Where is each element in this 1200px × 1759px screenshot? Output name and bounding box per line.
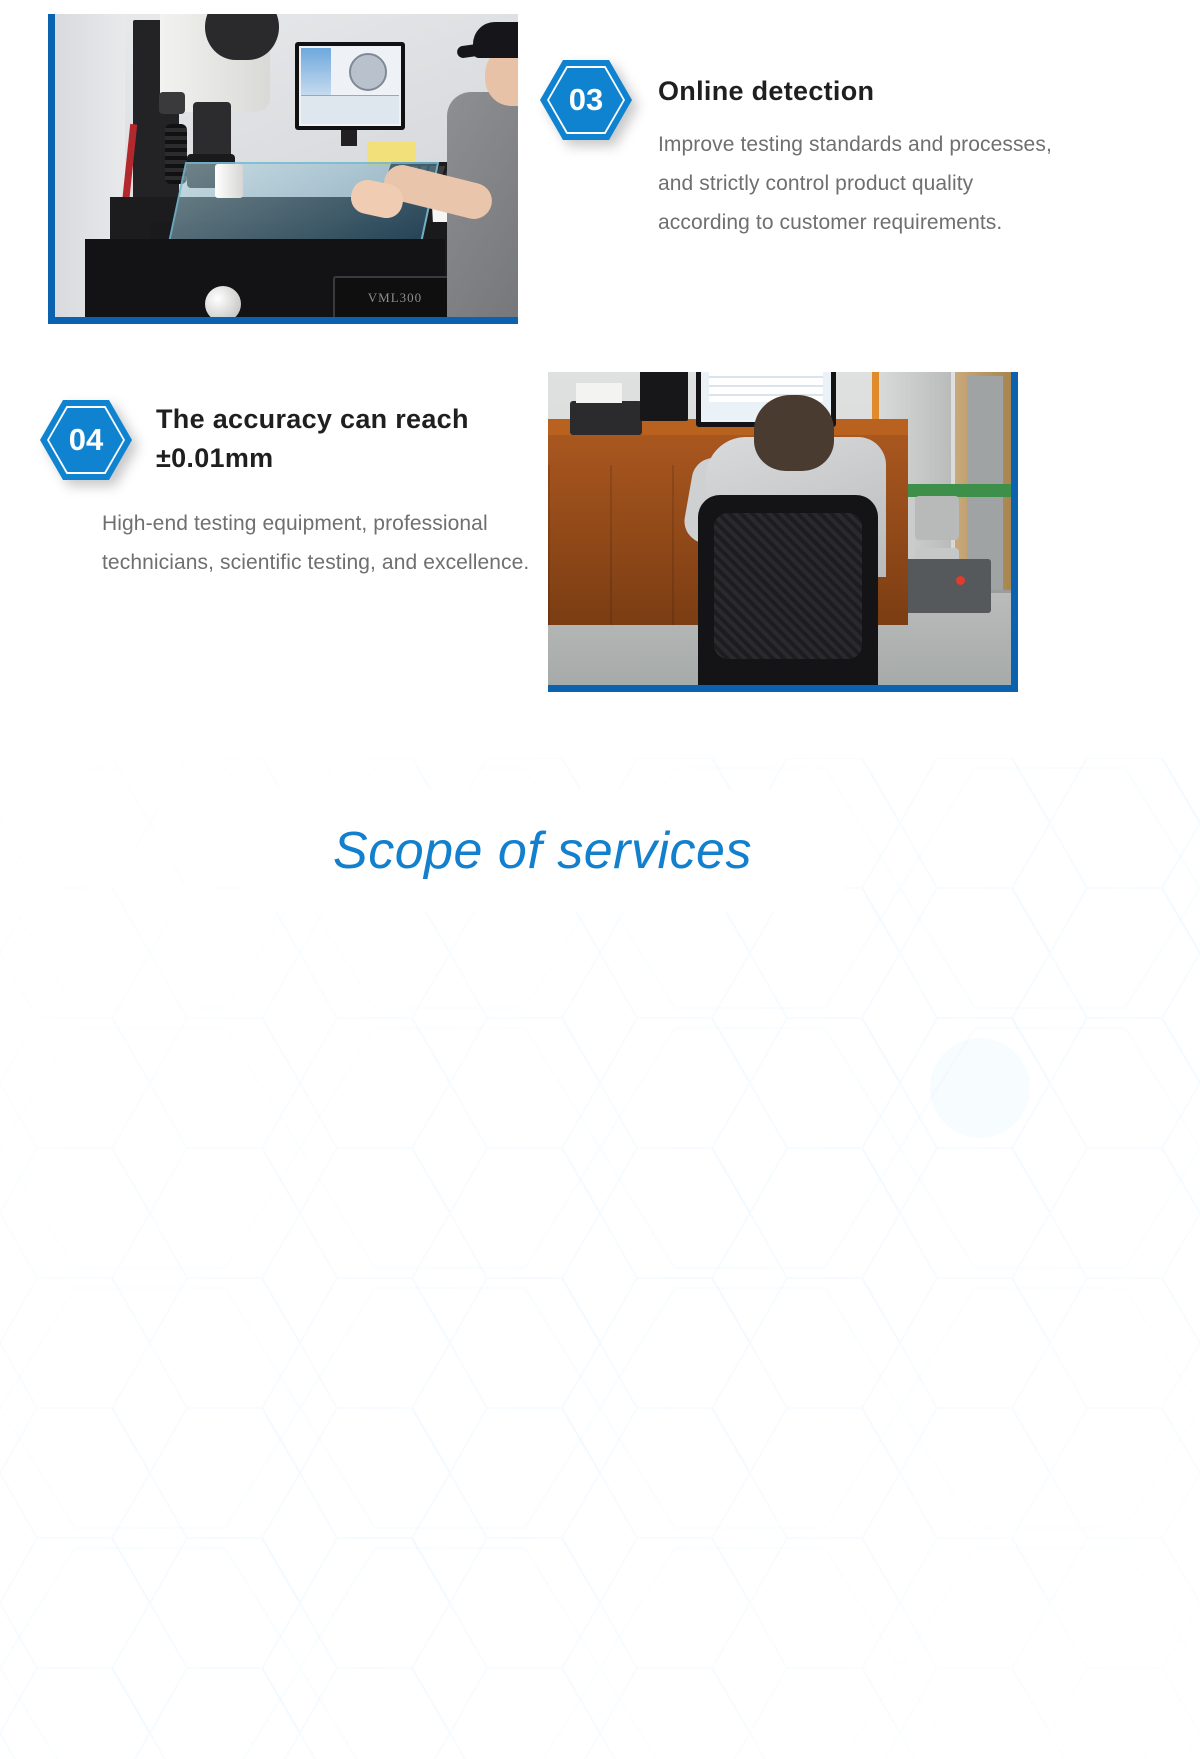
feature-card-03: 03 Online detection Improve testing stan… (540, 60, 1140, 242)
accuracy-testing-photo (548, 372, 1018, 692)
feature-title: The accuracy can reach ±0.01mm (156, 400, 496, 478)
scope-heading: Scope of services (333, 821, 752, 881)
bokeh-circle (20, 1208, 170, 1358)
bokeh-circle (640, 1358, 692, 1410)
scope-title-card: Scope of services (240, 790, 845, 912)
feature-card-04: 04 The accuracy can reach ±0.01mm High-e… (40, 400, 560, 582)
feature-number: 03 (540, 60, 632, 140)
hexagon-badge-icon: 04 (40, 400, 132, 480)
feature-body: Improve testing standards and processes,… (658, 125, 1058, 242)
feature-body: High-end testing equipment, professional… (102, 504, 532, 582)
features-section: VML300 03 Online detection Improve testi… (0, 0, 1200, 758)
feature-number: 04 (40, 400, 132, 480)
online-detection-photo: VML300 (48, 14, 518, 324)
hexagon-badge-icon: 03 (540, 60, 632, 140)
feature-title: Online detection (658, 72, 1058, 111)
